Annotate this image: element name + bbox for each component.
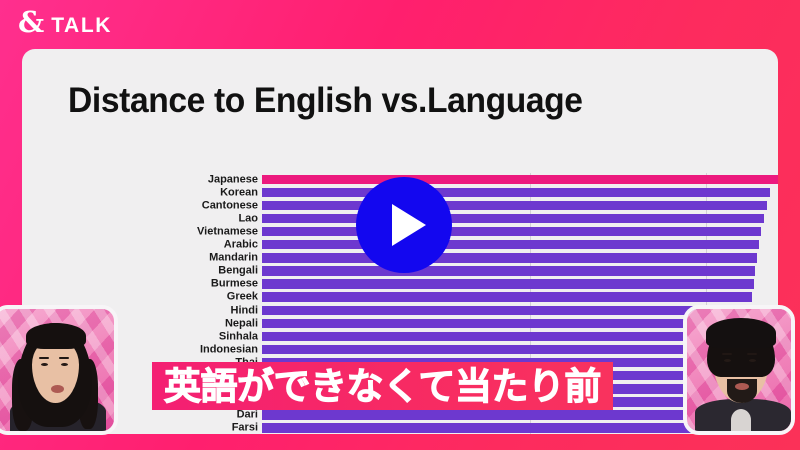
subtitle-banner: 英語ができなくて当たり前 [152,362,613,410]
speaker-thumbnail-left [0,305,118,435]
avatar-left [0,309,114,431]
avatar-eye-left-1 [41,363,48,366]
avatar-mouth-left [51,385,64,393]
bar-label-indonesian: Indonesian [200,344,258,355]
chart-row: Cantonese [262,199,778,212]
avatar-collar-right [731,409,751,431]
bar-lao [262,214,764,223]
subtitle-text: 英語ができなくて当たり前 [164,368,601,405]
chart-row: Japanese [262,173,778,186]
avatar-brow-left-2 [59,357,69,359]
avatar-eye-right-1 [724,359,731,362]
page-title: Distance to English vs.Language [68,81,583,121]
bar-label-farsi: Farsi [232,423,258,434]
chart-row: Bengali [262,265,778,278]
chart-row: Mandarin [262,252,778,265]
chart-row: Arabic [262,239,778,252]
bar-greek [262,292,752,301]
bar-korean [262,188,770,197]
brand-logo: & TALK [18,8,112,37]
bar-cantonese [262,201,767,210]
avatar-eye-left-2 [61,363,68,366]
bar-label-lao: Lao [238,213,258,224]
bar-label-arabic: Arabic [224,240,258,251]
avatar-right [687,309,791,431]
bar-label-greek: Greek [227,292,258,303]
bar-label-nepali: Nepali [225,318,258,329]
avatar-eye-right-2 [749,359,756,362]
bar-farsi [262,423,737,432]
bar-label-mandarin: Mandarin [209,253,258,264]
bar-burmese [262,279,754,288]
avatar-brow-right-1 [722,353,732,355]
bar-arabic [262,240,759,249]
bar-label-dari: Dari [237,410,258,421]
speaker-thumbnail-right [683,305,795,435]
bar-label-korean: Korean [220,187,258,198]
bar-label-burmese: Burmese [211,279,258,290]
bar-nepali [262,319,749,328]
avatar-brow-right-2 [747,353,757,355]
bar-vietnamese [262,227,761,236]
video-player-frame: & TALK Distance to English vs.Language J… [0,0,800,450]
avatar-mouth-right [735,383,749,390]
bar-label-bengali: Bengali [218,266,258,277]
chart-row: Korean [262,186,778,199]
brand-name: TALK [51,15,112,36]
bar-hindi [262,306,751,315]
bar-sinhala [262,332,748,341]
bar-dari [262,410,738,419]
ampersand-icon: & [18,8,44,37]
chart-row: Vietnamese [262,225,778,238]
play-button[interactable] [356,177,452,273]
bar-japanese [262,175,778,185]
bar-label-japanese: Japanese [208,174,258,185]
bar-indonesian [262,345,746,354]
avatar-hair-top-right [706,318,776,348]
avatar-fringe-left [26,323,86,349]
bar-bengali [262,266,755,275]
bar-label-cantonese: Cantonese [202,200,258,211]
bar-label-vietnamese: Vietnamese [197,226,258,237]
chart-row: Burmese [262,278,778,291]
chart-row: Lao [262,212,778,225]
chart-row: Greek [262,291,778,304]
bar-label-hindi: Hindi [231,305,259,316]
avatar-brow-left-1 [39,357,49,359]
bar-mandarin [262,253,757,262]
play-triangle-icon [392,204,426,246]
bar-label-sinhala: Sinhala [219,331,258,342]
